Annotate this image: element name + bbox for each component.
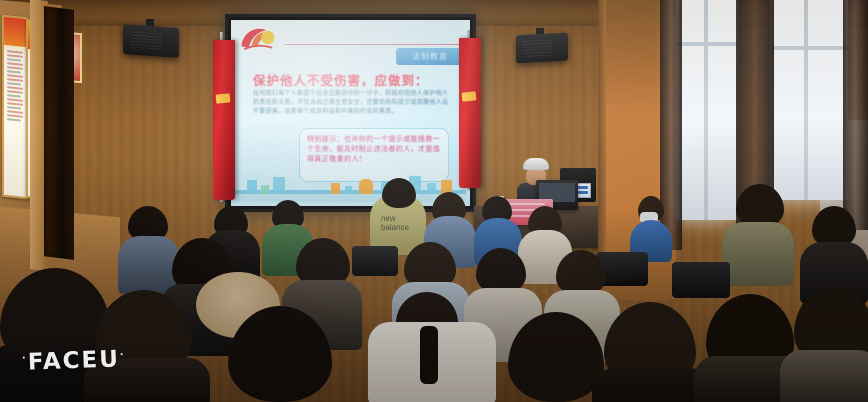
list-item xyxy=(382,178,416,208)
window-right xyxy=(770,0,848,200)
wall-speaker-right xyxy=(516,33,568,64)
wall-notice-board xyxy=(2,15,28,200)
classroom-photo: 法制教育 保护他人不受伤害，应做到： 任何我们每个人都是千姓身边集团中的一分子，… xyxy=(0,0,868,402)
chair-back xyxy=(672,262,730,298)
faceu-watermark: ·FACEU· xyxy=(22,346,127,376)
chinese-flag-right xyxy=(459,38,481,188)
slide-title: 保护他人不受伤害，应做到： xyxy=(253,70,429,89)
room-door xyxy=(44,6,74,260)
list-item xyxy=(780,350,868,402)
chair-back xyxy=(352,246,398,276)
wall-speaker-left xyxy=(123,24,179,58)
list-item xyxy=(118,236,180,294)
faceu-watermark-text: FACEU xyxy=(27,346,120,375)
chinese-flag-left xyxy=(213,40,235,200)
curtain xyxy=(843,0,868,230)
list-item xyxy=(420,326,438,384)
slide-tip-text: 特别提示：也许你的一个提示或能挽救一个生命，能及时制止违法者的人，才是值得真正敬… xyxy=(300,129,448,171)
projected-slide: 法制教育 保护他人不受伤害，应做到： 任何我们每个人都是千姓身边集团中的一分子，… xyxy=(231,20,470,206)
jacket-brand-text: new balance xyxy=(381,214,423,232)
projection-screen-frame: 法制教育 保护他人不受伤害，应做到： 任何我们每个人都是千姓身边集团中的一分子，… xyxy=(225,14,476,212)
slide-skyline-illustration xyxy=(235,174,466,202)
red-yellow-swoosh-logo xyxy=(237,24,281,54)
list-item xyxy=(722,222,794,286)
presenter-cap xyxy=(523,158,549,170)
slide-divider xyxy=(285,44,464,45)
slide-body-text: 任何我们每个人都是千姓身边集团中的一分子，积极劝阻他人保护他人的责任和义务。不仅… xyxy=(253,90,454,117)
window-left xyxy=(676,0,738,220)
slide-section-tab: 法制教育 xyxy=(396,48,464,65)
slide-section-tab-label: 法制教育 xyxy=(396,48,464,65)
